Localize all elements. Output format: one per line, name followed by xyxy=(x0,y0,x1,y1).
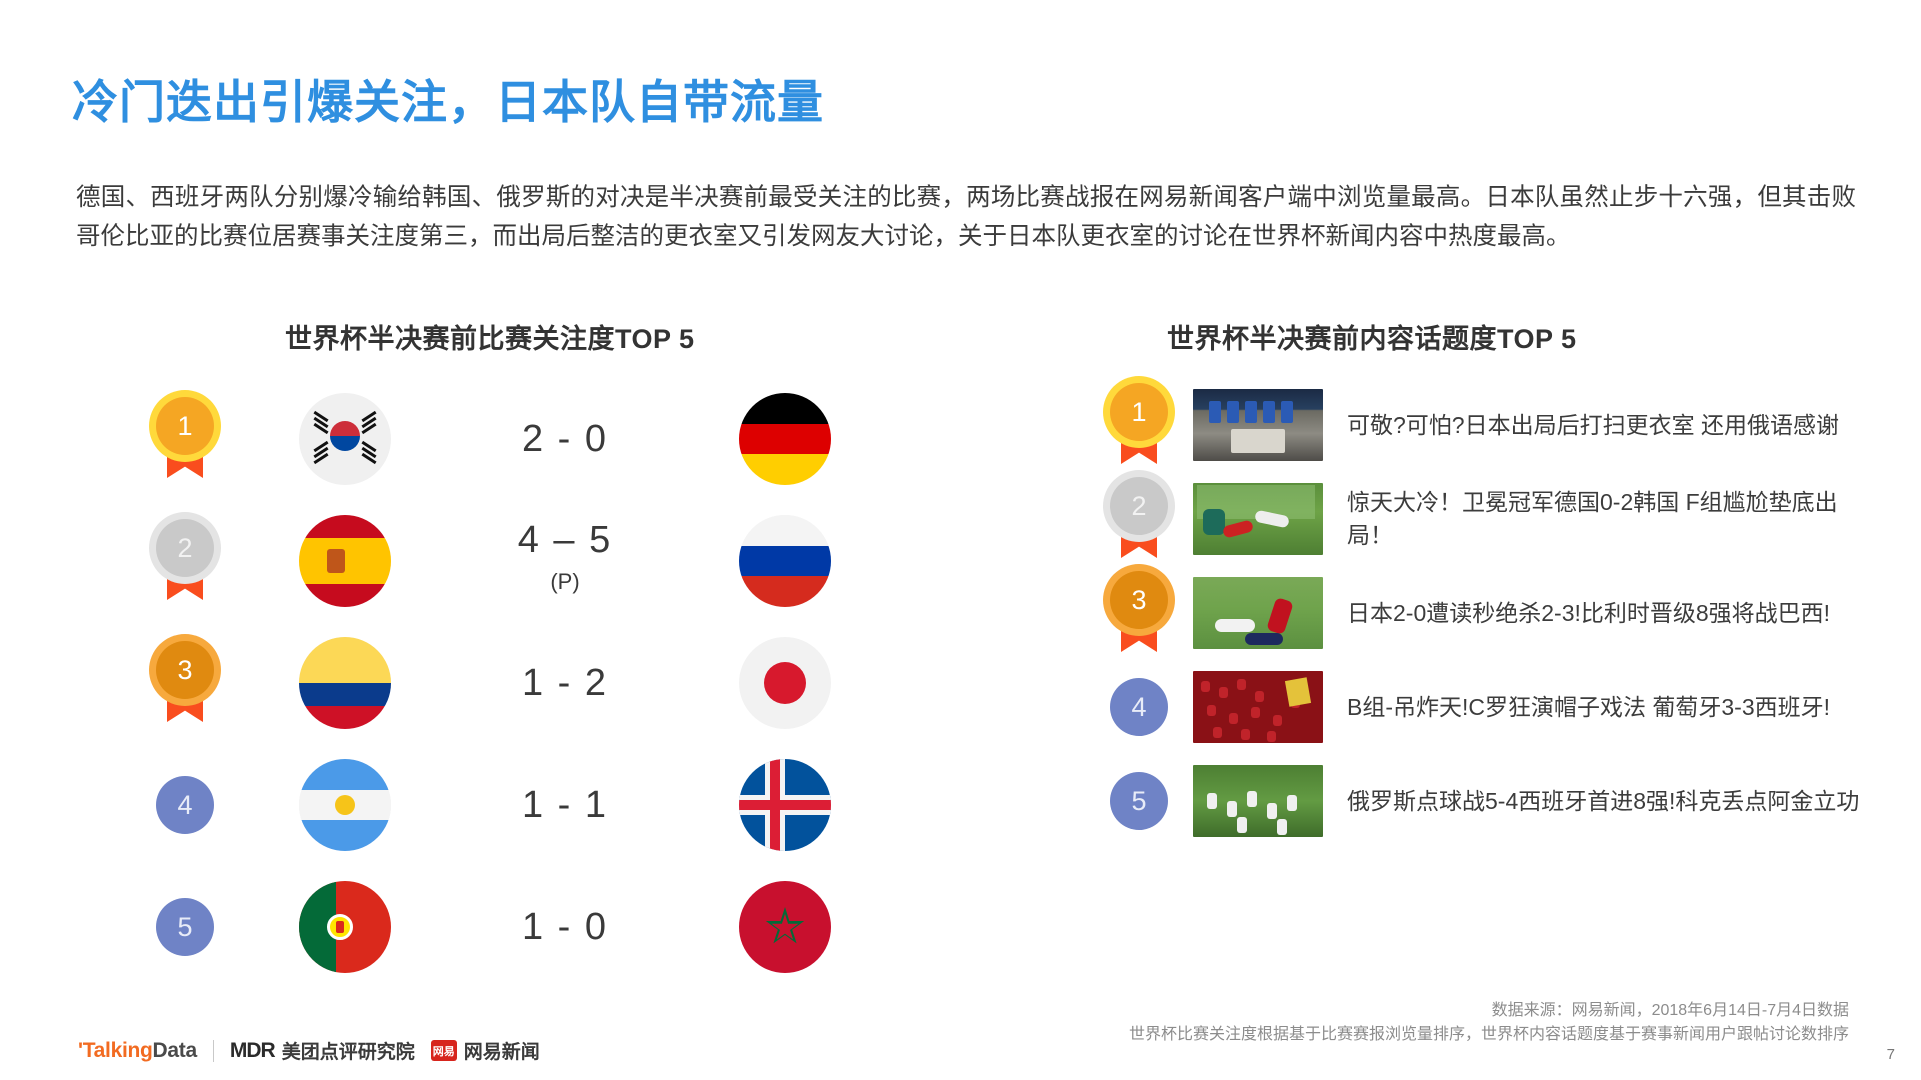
rank-badge-plain: 5 xyxy=(1110,772,1168,830)
rank-number: 4 xyxy=(177,790,192,821)
rank-number: 5 xyxy=(1131,786,1146,817)
netease-logo: 网易 网易新闻 xyxy=(431,1037,540,1064)
away-flag-cell xyxy=(690,393,880,485)
mdr-logo: MDR 美团点评研究院 xyxy=(230,1037,415,1064)
rank-badge-plain: 4 xyxy=(156,776,214,834)
source-line-2: 世界杯比赛关注度根据基于比赛赛报浏览量排序，世界杯内容话题度基于赛事新闻用户跟帖… xyxy=(1129,1020,1849,1044)
flag-de-icon xyxy=(739,393,831,485)
home-flag-cell xyxy=(250,393,440,485)
score-cell: 1 - 2 xyxy=(440,661,690,705)
rank-badge-plain: 4 xyxy=(1110,678,1168,736)
list-item[interactable]: 3 日本2-0遭读秒绝杀2-3!比利时晋级8强将战巴西! xyxy=(1085,566,1875,660)
rank-number: 5 xyxy=(177,912,192,943)
source-line-1: 数据来源：网易新闻，2018年6月14日-7月4日数据 xyxy=(1492,996,1849,1020)
mdr-label: 美团点评研究院 xyxy=(282,1037,415,1064)
rank-cell: 3 xyxy=(120,641,250,725)
thumbnail-spain-fans[interactable] xyxy=(1193,671,1323,743)
away-flag-cell xyxy=(690,759,880,851)
rank-number: 2 xyxy=(156,519,214,577)
medal-silver-icon: 2 xyxy=(1110,477,1168,561)
flag-pt-icon xyxy=(299,881,391,973)
rank-cell: 2 xyxy=(1085,477,1193,561)
page-number: 7 xyxy=(1887,1046,1895,1063)
table-row: 1 xyxy=(120,378,880,500)
rank-number: 2 xyxy=(1110,477,1168,535)
topic-headline[interactable]: 惊天大冷！卫冕冠军德国0-2韩国 F组尴尬垫底出局！ xyxy=(1347,486,1875,552)
home-flag-cell xyxy=(250,515,440,607)
rank-number: 4 xyxy=(1131,692,1146,723)
brand-logo-bar: 'TalkingData MDR 美团点评研究院 网易 网易新闻 xyxy=(78,1037,540,1064)
medal-bronze-icon: 3 xyxy=(1110,571,1168,655)
list-item[interactable]: 4 B组-吊炸天!C罗狂演帽子戏法 葡萄牙3-3西班牙! xyxy=(1085,660,1875,754)
score-value: 4 – 5 xyxy=(518,519,613,561)
rank-number: 3 xyxy=(156,641,214,699)
score-cell: 2 - 0 xyxy=(440,417,690,461)
score-cell: 1 - 0 xyxy=(440,905,690,949)
talkingdata-logo: 'TalkingData xyxy=(78,1039,197,1063)
thumbnail-japan-belgium[interactable] xyxy=(1193,577,1323,649)
slide-root: 冷门迭出引爆关注，日本队自带流量 德国、西班牙两队分别爆冷输给韩国、俄罗斯的对决… xyxy=(0,0,1921,1080)
home-flag-cell xyxy=(250,637,440,729)
away-flag-cell xyxy=(690,637,880,729)
home-flag-cell xyxy=(250,759,440,851)
table-row: 2 4 – 5 (P) xyxy=(120,500,880,622)
topic-headline[interactable]: 可敬?可怕?日本出局后打扫更衣室 还用俄语感谢 xyxy=(1347,409,1875,442)
medal-gold-icon: 1 xyxy=(1110,383,1168,467)
list-item[interactable]: 5 俄罗斯点球战5-4西班牙首进8强!科克丢点阿金立功 xyxy=(1085,754,1875,848)
medal-silver-icon: 2 xyxy=(156,519,214,603)
rank-cell: 4 xyxy=(120,776,250,834)
rank-cell: 3 xyxy=(1085,571,1193,655)
page-title: 冷门迭出引爆关注，日本队自带流量 xyxy=(72,66,824,132)
list-item[interactable]: 2 惊天大冷！卫冕冠军德国0-2韩国 F组尴尬垫底出局！ xyxy=(1085,472,1875,566)
rank-cell: 2 xyxy=(120,519,250,603)
rank-badge-plain: 5 xyxy=(156,898,214,956)
away-flag-cell xyxy=(690,881,880,973)
right-section-heading: 世界杯半决赛前内容话题度TOP 5 xyxy=(1167,317,1577,356)
rank-number: 1 xyxy=(1110,383,1168,441)
away-flag-cell xyxy=(690,515,880,607)
flag-ma-icon xyxy=(739,881,831,973)
netease-label: 网易新闻 xyxy=(464,1037,540,1064)
flag-ru-icon xyxy=(739,515,831,607)
thumbnail-locker-room[interactable] xyxy=(1193,389,1323,461)
flag-jp-icon xyxy=(739,637,831,729)
thumbnail-russia-celebration[interactable] xyxy=(1193,765,1323,837)
topic-ranking-list: 1 可敬?可怕?日本出局后打扫更衣室 还用俄语感谢 2 惊天大冷！卫冕冠军德国0… xyxy=(1085,378,1875,848)
score-value: 2 - 0 xyxy=(522,418,608,460)
home-flag-cell xyxy=(250,881,440,973)
match-ranking-list: 1 xyxy=(120,378,880,988)
topic-headline[interactable]: 日本2-0遭读秒绝杀2-3!比利时晋级8强将战巴西! xyxy=(1347,597,1875,630)
medal-gold-icon: 1 xyxy=(156,397,214,481)
rank-cell: 4 xyxy=(1085,678,1193,736)
table-row: 4 1 - 1 xyxy=(120,744,880,866)
score-value: 1 - 0 xyxy=(522,906,608,948)
list-item[interactable]: 1 可敬?可怕?日本出局后打扫更衣室 还用俄语感谢 xyxy=(1085,378,1875,472)
left-section-heading: 世界杯半决赛前比赛关注度TOP 5 xyxy=(285,317,695,356)
rank-number: 1 xyxy=(156,397,214,455)
flag-kr-icon xyxy=(299,393,391,485)
medal-bronze-icon: 3 xyxy=(156,641,214,725)
flag-co-icon xyxy=(299,637,391,729)
mdr-mark: MDR xyxy=(230,1039,275,1063)
flag-es-icon xyxy=(299,515,391,607)
topic-headline[interactable]: 俄罗斯点球战5-4西班牙首进8强!科克丢点阿金立功 xyxy=(1347,785,1875,818)
thumbnail-goal-line[interactable] xyxy=(1193,483,1323,555)
score-note: (P) xyxy=(440,560,690,604)
score-cell: 1 - 1 xyxy=(440,783,690,827)
talkingdata-logo-text: Data xyxy=(153,1039,197,1062)
score-value: 1 - 2 xyxy=(522,662,608,704)
flag-is-icon xyxy=(739,759,831,851)
lede-paragraph: 德国、西班牙两队分别爆冷输给韩国、俄罗斯的对决是半决赛前最受关注的比赛，两场比赛… xyxy=(76,178,1856,256)
rank-number: 3 xyxy=(1110,571,1168,629)
netease-mark: 网易 xyxy=(431,1040,457,1061)
divider xyxy=(213,1040,214,1062)
flag-ar-icon xyxy=(299,759,391,851)
rank-cell: 1 xyxy=(120,397,250,481)
topic-headline[interactable]: B组-吊炸天!C罗狂演帽子戏法 葡萄牙3-3西班牙! xyxy=(1347,691,1875,724)
rank-cell: 5 xyxy=(1085,772,1193,830)
score-value: 1 - 1 xyxy=(522,784,608,826)
score-cell: 4 – 5 (P) xyxy=(440,518,690,604)
table-row: 5 1 - 0 xyxy=(120,866,880,988)
rank-cell: 1 xyxy=(1085,383,1193,467)
table-row: 3 1 - 2 xyxy=(120,622,880,744)
rank-cell: 5 xyxy=(120,898,250,956)
